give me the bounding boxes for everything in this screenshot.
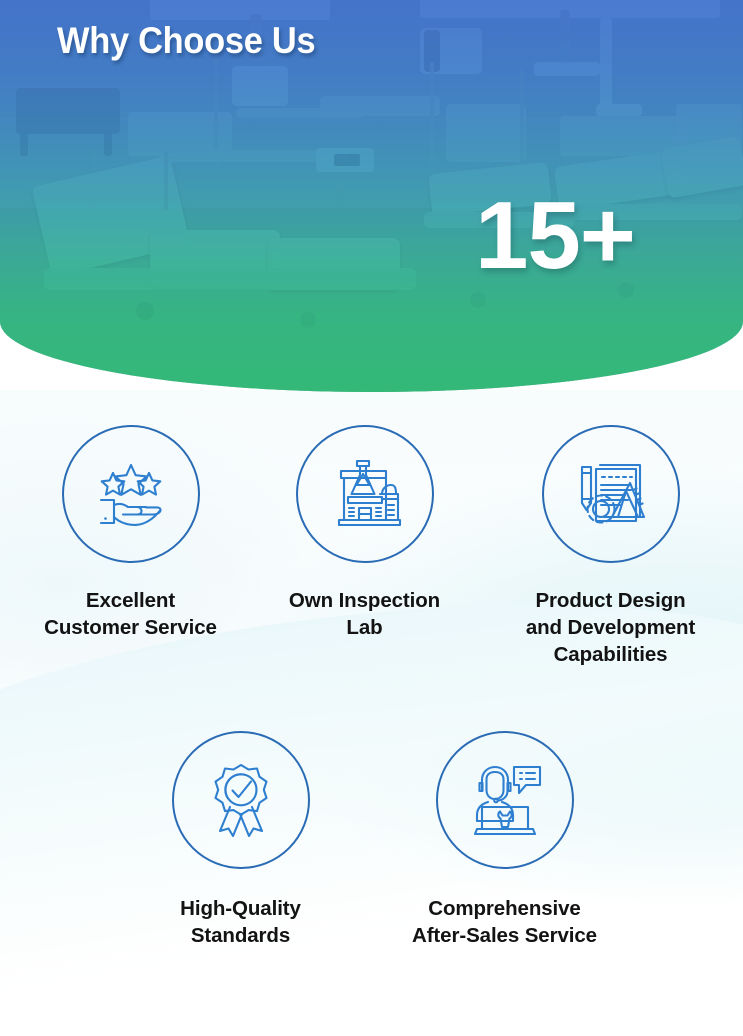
blueprint-pencil-gear-ruler-icon <box>570 453 652 535</box>
feature-label: Excellent Customer Service <box>44 587 217 641</box>
page-title: Why Choose Us <box>57 20 315 62</box>
laboratory-building-flask-icon <box>324 453 406 535</box>
feature-item-high-quality-standards[interactable]: High-Quality Standards <box>141 731 341 949</box>
feature-label: Comprehensive After-Sales Service <box>412 895 597 949</box>
feature-item-after-sales-service[interactable]: Comprehensive After-Sales Service <box>393 731 617 949</box>
feature-label: Product Design and Development Capabilit… <box>526 587 695 668</box>
icon-circle <box>62 425 200 563</box>
icon-circle <box>542 425 680 563</box>
feature-item-customer-service[interactable]: Excellent Customer Service <box>31 425 231 641</box>
support-agent-headset-laptop-icon <box>464 759 546 841</box>
features-section: Excellent Customer Service <box>0 425 743 949</box>
feature-label: Own Inspection Lab <box>289 587 440 641</box>
hand-holding-stars-icon <box>90 453 172 535</box>
years-experience-stat: 15+ <box>475 188 635 284</box>
why-choose-us-page: Why Choose Us 15+ <box>0 0 743 1036</box>
icon-circle <box>436 731 574 869</box>
features-row-2: High-Quality Standards <box>0 731 743 949</box>
feature-item-inspection-lab[interactable]: Own Inspection Lab <box>265 425 465 641</box>
icon-circle <box>172 731 310 869</box>
icon-circle <box>296 425 434 563</box>
features-row-1: Excellent Customer Service <box>0 425 743 668</box>
quality-badge-check-ribbon-icon <box>200 759 282 841</box>
hero-banner: Why Choose Us 15+ <box>0 0 743 392</box>
feature-item-product-design[interactable]: Product Design and Development Capabilit… <box>499 425 723 668</box>
feature-label: High-Quality Standards <box>180 895 301 949</box>
